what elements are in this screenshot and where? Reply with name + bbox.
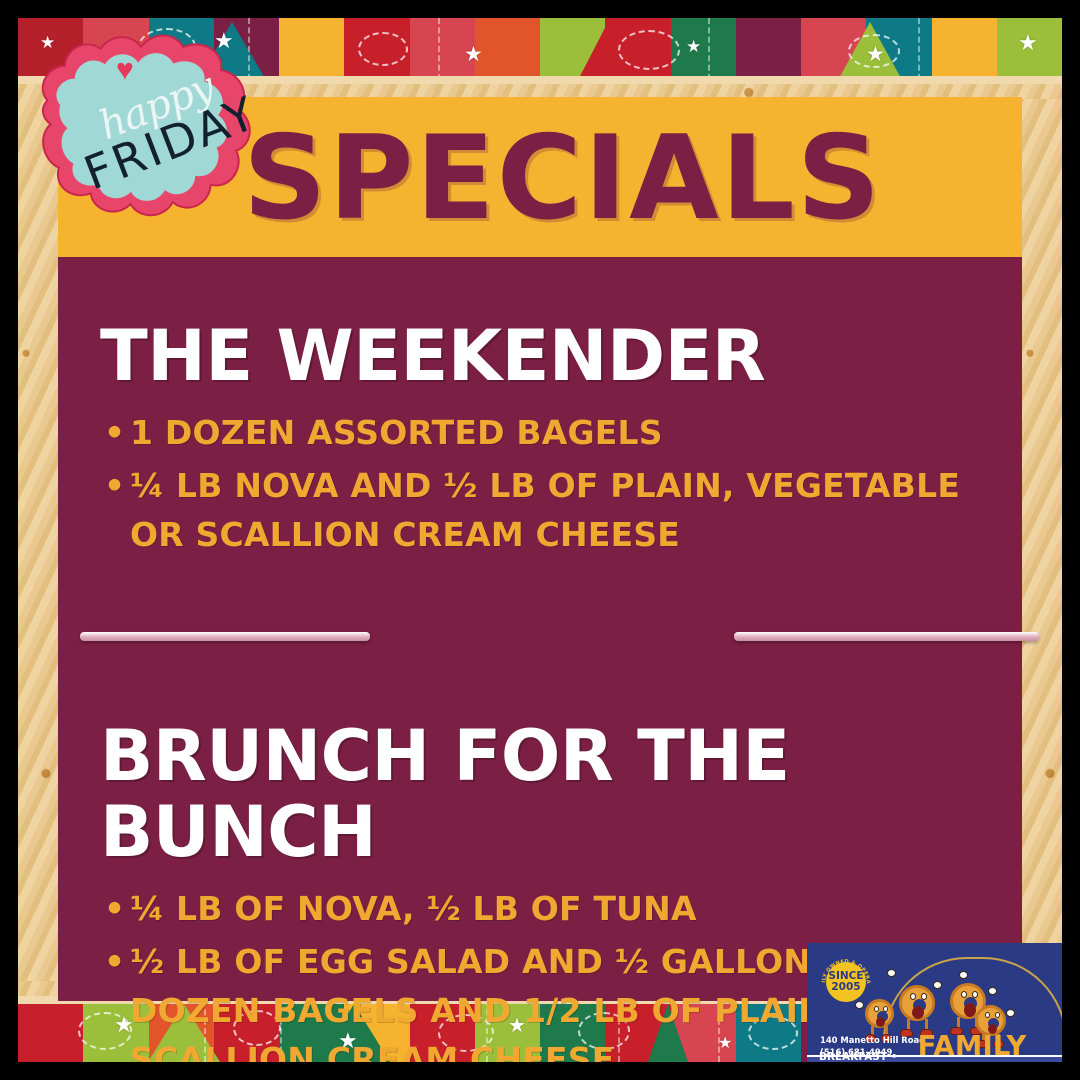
poster-canvas: ★ ★ ★ ★ ★ ★ ★	[18, 18, 1062, 1062]
mascot-hand	[1006, 1009, 1015, 1017]
deal-title: THE WEEKENDER	[100, 318, 1010, 394]
facebook-icon[interactable]: f	[1021, 1062, 1035, 1063]
list-item: 1 DOZEN ASSORTED BAGELS	[100, 408, 1010, 457]
deal-title: BRUNCH FOR THE BUNCH	[100, 718, 1010, 870]
list-item: ¼ LB OF NOVA, ½ LB OF TUNA	[100, 884, 1010, 933]
star-icon: ★	[686, 38, 701, 55]
section-divider-left	[80, 632, 370, 641]
bagel-mascot	[899, 985, 935, 1021]
deal-item-list: 1 DOZEN ASSORTED BAGELS ¼ LB NOVA AND ½ …	[100, 408, 1010, 559]
deal-block-weekender: THE WEEKENDER 1 DOZEN ASSORTED BAGELS ¼ …	[100, 318, 1010, 563]
mascot-hand	[959, 971, 968, 979]
since-badge: FAMILY OWNED & OPERATED SINCE 2005	[821, 957, 871, 1007]
brand-logo-card[interactable]: FAMILY OWNED & OPERATED SINCE 2005 140 M…	[807, 943, 1062, 1062]
mascot-hand	[933, 981, 942, 989]
logo-services: BREAKFAST • LUNCH • CATERING	[819, 1052, 904, 1062]
logo-footer-strip: BREAKFAST • LUNCH • CATERING familybagel…	[807, 1055, 1062, 1062]
star-icon: ★	[866, 44, 885, 65]
twitter-icon[interactable]	[1039, 1062, 1053, 1063]
list-item: ¼ LB NOVA AND ½ LB OF PLAIN, VEGETABLE O…	[100, 461, 1010, 559]
since-circle: SINCE 2005	[826, 962, 866, 1002]
happy-friday-badge: ♥ happy FRIDAY	[25, 18, 283, 241]
social-links: f	[1017, 1062, 1062, 1063]
heart-icon: ♥	[116, 56, 134, 86]
star-icon: ★	[464, 44, 483, 65]
mascot-hand	[988, 987, 997, 995]
mascot-hand	[887, 969, 896, 977]
instagram-icon[interactable]	[1057, 1062, 1062, 1063]
page-title: SPECIALS	[243, 114, 943, 244]
star-icon: ★	[1018, 32, 1038, 54]
section-divider-right	[734, 632, 1039, 641]
kraft-texture-right	[1022, 73, 1062, 1007]
since-year: 2005	[831, 982, 860, 993]
